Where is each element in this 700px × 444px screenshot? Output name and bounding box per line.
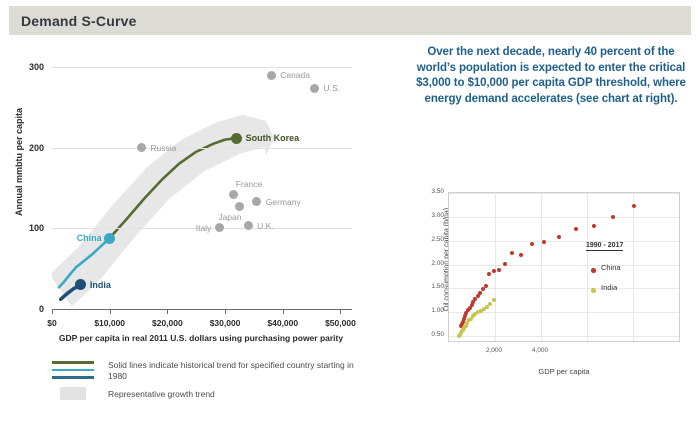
- legend-dot-india: [591, 288, 596, 293]
- data-point-canada: [267, 71, 276, 80]
- legend-line-swatches: [52, 361, 94, 384]
- right-chart-y-tick: 1.50: [422, 283, 444, 290]
- right-chart-point-china: [542, 240, 546, 244]
- main-chart-x-axis-line: [52, 309, 352, 310]
- legend-line-darkblue: [52, 376, 94, 379]
- main-chart-y-tick: 0: [14, 304, 44, 314]
- main-chart-x-tick-mark: [340, 309, 341, 314]
- right-chart-y-tick: 1.00: [422, 307, 444, 314]
- right-chart-point-china: [557, 235, 561, 239]
- right-chart-y-tick: 0.50: [422, 331, 444, 338]
- main-chart-y-tick: 100: [14, 223, 44, 233]
- main-chart-x-tick: $40,000: [259, 318, 307, 328]
- right-chart-y-tick: 2.50: [422, 236, 444, 243]
- data-point-japan: [235, 202, 244, 211]
- right-chart-point-china: [611, 215, 615, 219]
- right-chart-gridline: [449, 241, 679, 242]
- main-chart-x-tick: $20,000: [143, 318, 191, 328]
- legend-line-green: [52, 361, 94, 364]
- data-label-russia: Russia: [150, 143, 176, 153]
- main-chart-x-tick-mark: [110, 309, 111, 314]
- data-point-south-korea: [231, 133, 242, 144]
- right-chart-gridline-v: [633, 193, 634, 341]
- right-chart-legend-title: 1990 - 2017: [586, 242, 623, 251]
- main-chart-x-tick-mark: [283, 309, 284, 314]
- right-chart-x-tick: 2,000: [479, 347, 509, 354]
- oil-consumption-chart: Oil consumption per capita (b/pa) GDP pe…: [434, 192, 686, 357]
- right-chart-gridline-v: [495, 193, 496, 341]
- right-chart-gridline: [449, 217, 679, 218]
- right-chart-point-china: [478, 291, 482, 295]
- right-chart-gridline: [449, 265, 679, 266]
- right-chart-gridline: [449, 193, 679, 194]
- right-chart-point-china: [632, 204, 636, 208]
- main-chart-x-tick: $50,000: [316, 318, 364, 328]
- legend-line-lightblue: [52, 369, 94, 372]
- main-chart-x-axis-title: GDP per capita in real 2011 U.S. dollars…: [36, 333, 366, 343]
- data-label-germany: Germany: [266, 197, 301, 207]
- legend-line-text: Solid lines indicate historical trend fo…: [108, 360, 358, 382]
- right-chart-gridline-v: [587, 193, 588, 341]
- data-point-u-s-: [310, 84, 319, 93]
- right-chart-y-tick: 3.00: [422, 212, 444, 219]
- right-chart-y-tick: 3.50: [422, 188, 444, 195]
- right-panel: Over the next decade, nearly 40 percent …: [400, 37, 700, 409]
- right-chart-point-china: [574, 227, 578, 231]
- legend-label-china: China: [601, 263, 621, 272]
- right-chart-gridline: [449, 312, 679, 313]
- data-label-italy: Italy: [196, 223, 212, 233]
- right-chart-gridline: [449, 336, 679, 337]
- right-chart-point-china: [530, 242, 534, 246]
- data-label-india: India: [90, 280, 111, 290]
- right-chart-point-china: [497, 268, 501, 272]
- pullquote-text: Over the next decade, nearly 40 percent …: [410, 45, 692, 107]
- main-chart-y-tick: 200: [14, 143, 44, 153]
- main-chart-y-axis-title: Annual mmbtu per capita: [14, 77, 24, 247]
- legend-band-swatch: [60, 387, 86, 400]
- legend-band-text: Representative growth trend: [108, 389, 358, 400]
- right-chart-point-china: [510, 251, 514, 255]
- main-chart-x-tick-mark: [167, 309, 168, 314]
- data-label-u-s-: U.S.: [324, 83, 341, 93]
- right-chart-y-tick: 2.00: [422, 260, 444, 267]
- main-chart-svg: [52, 59, 352, 309]
- right-chart-point-china: [487, 272, 491, 276]
- data-label-canada: Canada: [280, 70, 310, 80]
- right-chart-point-china: [592, 224, 596, 228]
- data-point-china: [104, 233, 115, 244]
- right-chart-gridline-v: [541, 193, 542, 341]
- right-chart-x-axis-title: GDP per capita: [474, 367, 654, 376]
- data-label-france: France: [236, 179, 262, 189]
- right-chart-point-india: [488, 302, 492, 306]
- right-chart-x-tick: 4,000: [525, 347, 555, 354]
- header-bar: Demand S-Curve: [9, 6, 691, 35]
- data-point-italy: [215, 223, 224, 232]
- data-label-japan: Japan: [218, 212, 241, 222]
- main-chart-x-tick-mark: [52, 309, 53, 314]
- page-title: Demand S-Curve: [9, 13, 137, 29]
- right-chart-point-china: [484, 284, 488, 288]
- main-chart-plot-area: RussiaCanadaU.S.FranceGermanyJapanItalyU…: [52, 59, 352, 309]
- main-chart-x-tick: $0: [28, 318, 76, 328]
- main-chart-x-tick-mark: [225, 309, 226, 314]
- main-chart-y-tick: 300: [14, 62, 44, 72]
- data-label-china: China: [77, 233, 102, 243]
- data-label-u-k-: U.K.: [257, 221, 274, 231]
- legend-label-india: India: [601, 283, 617, 292]
- legend-dot-china: [591, 268, 596, 273]
- data-label-south-korea: South Korea: [246, 133, 300, 143]
- main-chart-panel: Annual mmbtu per capita RussiaCanadaU.S.…: [0, 37, 400, 409]
- main-chart-gridline: [52, 67, 352, 68]
- main-chart-x-tick: $30,000: [201, 318, 249, 328]
- main-chart-gridline: [52, 148, 352, 149]
- right-chart-point-china: [519, 253, 523, 257]
- right-chart-plot-area: [448, 192, 680, 342]
- main-chart-x-tick: $10,000: [86, 318, 134, 328]
